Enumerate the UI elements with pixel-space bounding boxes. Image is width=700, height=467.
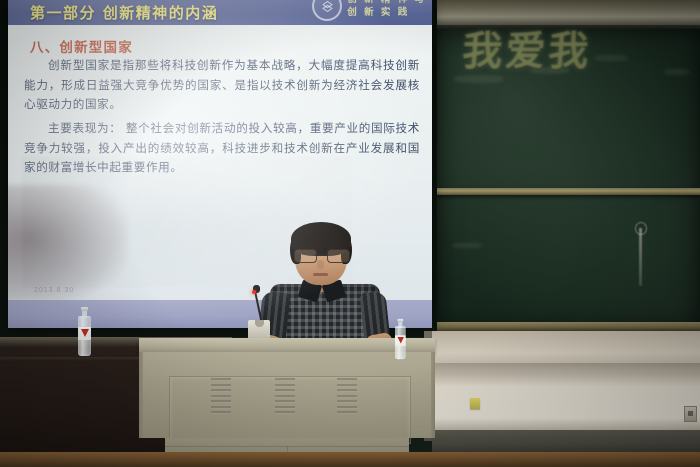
podium-vent-louver — [211, 378, 231, 414]
wooden-floor-strip — [0, 452, 700, 467]
podium-vent-louver — [337, 378, 357, 414]
microphone-base-notch — [255, 320, 264, 327]
speaker-nose — [317, 260, 324, 269]
podium-top-surface — [139, 338, 435, 353]
slide-title: 第一部分 创新精神的内涵 — [30, 2, 218, 23]
lecture-hall-photo: 我爱我 第一部分 创新精神的内涵 创 新 精 神 与 创 新 实 践 — [0, 0, 700, 467]
bottle-neck — [398, 321, 402, 328]
bottle-cap — [397, 319, 403, 322]
yellow-sticky-note-wall — [470, 398, 480, 409]
slide-date-stamp: 2013.8.30 — [34, 287, 74, 294]
slide-brand-text: 创 新 精 神 与 创 新 实 践 — [347, 0, 426, 19]
stage-platform-base — [432, 430, 700, 454]
wall-power-outlet — [684, 406, 697, 422]
bottle-neck — [82, 310, 87, 318]
glasses-lens-left — [294, 249, 317, 263]
university-logo-icon — [312, 0, 342, 21]
blackboard-bottom-rail — [434, 322, 700, 331]
chalk-smudge — [452, 243, 482, 248]
glasses-bridge — [315, 254, 327, 256]
chalk-smudge — [664, 69, 690, 75]
chalk-smudge — [594, 55, 628, 61]
speaker-mouth — [313, 273, 328, 276]
slide-section-heading: 八、创新型国家 — [30, 36, 133, 56]
brand-line-2: 创 新 实 践 — [347, 6, 409, 19]
microphone-led-indicator — [252, 290, 256, 294]
slide-header-band: 第一部分 创新精神的内涵 创 新 精 神 与 创 新 实 践 — [8, 0, 432, 25]
podium-vent-louver — [275, 378, 295, 414]
blackboard-chalk-rail — [434, 188, 700, 195]
speaker-at-podium — [262, 222, 388, 342]
outlet-slot — [688, 411, 693, 416]
hanging-pointer-stick — [639, 228, 642, 286]
glasses-lens-right — [327, 249, 350, 263]
slide-paragraph-2: 主要表现为： 整个社会对创新活动的投入较高，重要产业的国际技术竞争力较强，投入产… — [24, 119, 420, 178]
chalk-smudge — [454, 75, 504, 83]
stage-front-band — [432, 363, 700, 373]
slide-brand: 创 新 精 神 与 创 新 实 践 — [312, 0, 426, 21]
water-bottle-right — [395, 319, 406, 355]
blackboard — [434, 29, 700, 329]
slide-shadow-blob — [8, 185, 128, 300]
slide-paragraph-1: 创新型国家是指那些将科技创新作为基本战略，大幅度提高科技创新能力，形成日益强大竞… — [24, 56, 420, 115]
water-bottle-left — [78, 307, 91, 357]
wall-upper-strip — [434, 0, 700, 28]
bottle-cap — [81, 307, 88, 311]
chalk-smudge — [530, 67, 570, 74]
lecture-podium — [139, 338, 435, 467]
